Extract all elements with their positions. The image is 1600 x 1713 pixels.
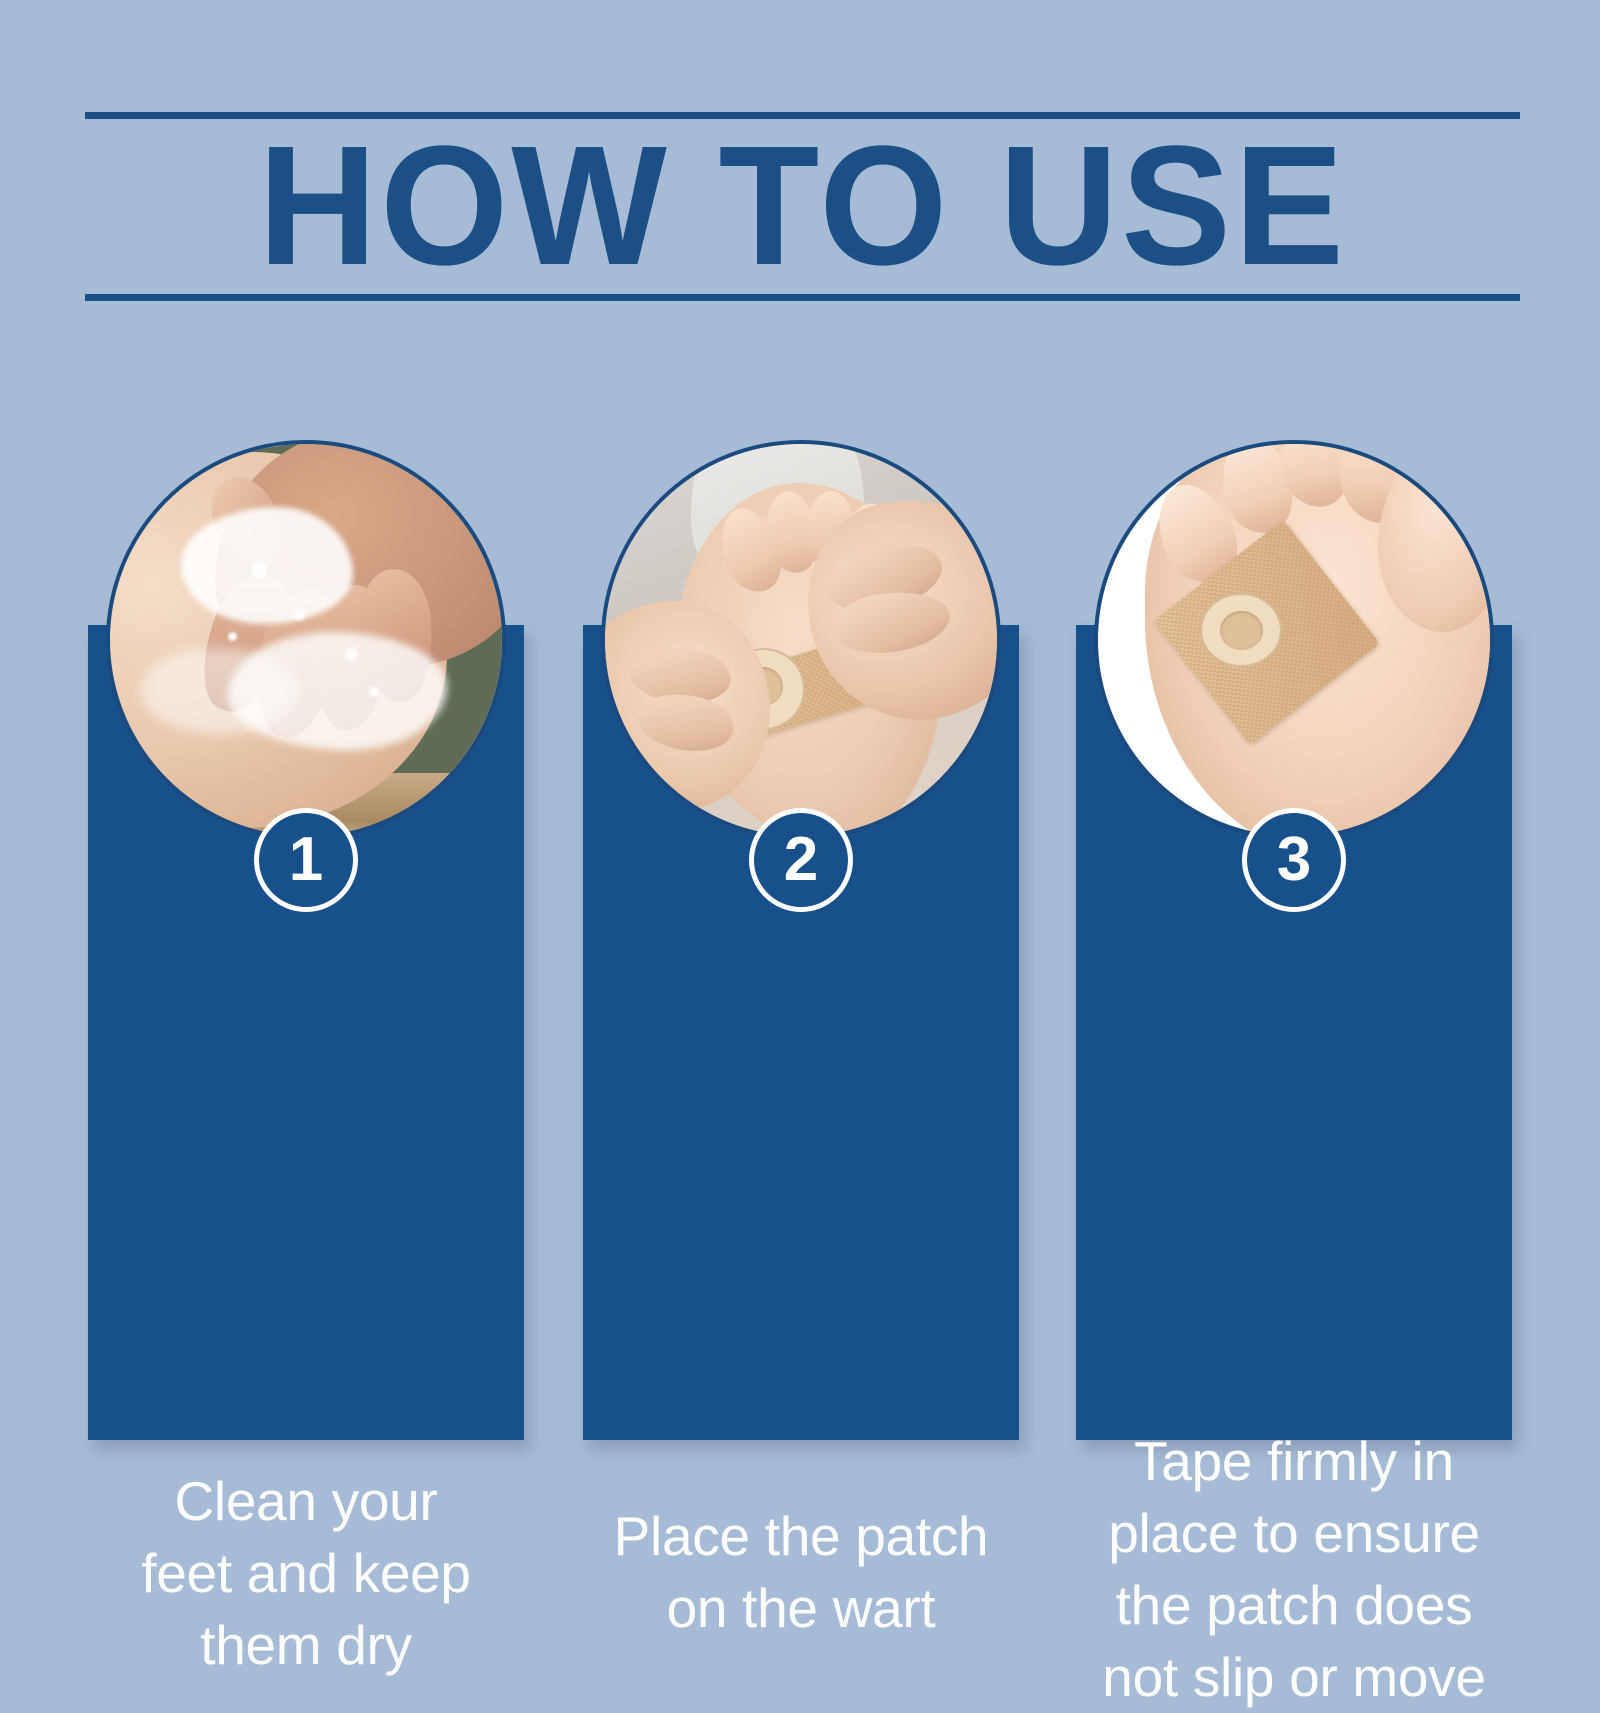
step-number-badge-3: 3	[1242, 808, 1346, 912]
step-caption-2: Place the patch on the wart	[589, 1500, 1013, 1644]
step-card-1: 1 Clean your feet and keep them dry	[88, 440, 524, 1440]
step-2-photo	[601, 440, 1001, 840]
soap-foam	[181, 507, 353, 625]
step-2-photo-inner	[605, 444, 997, 836]
step-1-photo	[106, 440, 506, 840]
step-number-badge-1: 1	[254, 808, 358, 912]
soap-foam	[141, 648, 298, 734]
step-caption-1: Clean your feet and keep them dry	[94, 1465, 518, 1681]
step-caption-3: Tape firmly in place to ensure the patch…	[1082, 1425, 1506, 1713]
step-number-badge-2: 2	[749, 808, 853, 912]
step-3-photo-inner	[1098, 444, 1490, 836]
soap-bubble	[228, 632, 237, 641]
infographic-root: HOW TO USE	[0, 0, 1600, 1600]
soap-bubble	[251, 562, 267, 578]
step-3-photo	[1094, 440, 1494, 840]
soap-bubble	[345, 648, 358, 661]
steps-container: 1 Clean your feet and keep them dry	[0, 0, 1600, 1600]
step-card-2: 2 Place the patch on the wart	[583, 440, 1019, 1440]
step-1-photo-inner	[110, 444, 502, 836]
step-card-3: 3 Tape firmly in place to ensure the pat…	[1076, 440, 1512, 1440]
wart-patch-hole	[1220, 611, 1263, 650]
soap-bubble	[369, 687, 379, 697]
soap-bubble	[294, 609, 305, 620]
